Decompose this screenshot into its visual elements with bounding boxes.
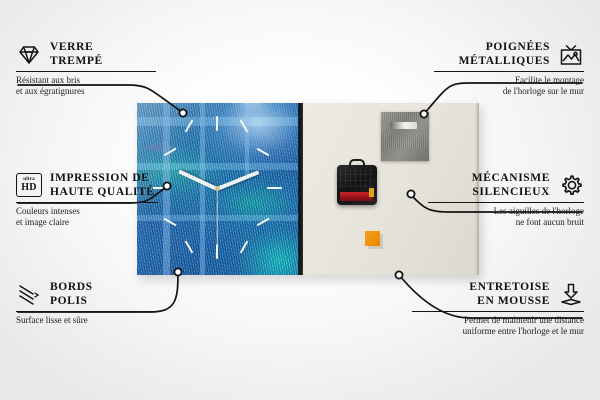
callout-rule <box>16 311 156 312</box>
callout-impression-hd: ultra HD IMPRESSION DE HAUTE QUALITÉ Cou… <box>16 172 168 228</box>
callout-poignees-metalliques: POIGNÉES MÉTALLIQUES Facilite le montage… <box>434 41 584 97</box>
picture-hanger-icon <box>558 42 584 68</box>
hd-icon-small-text: ultra <box>23 177 35 182</box>
desc-line-2: et image claire <box>16 217 69 227</box>
desc-line-1: Couleurs intenses <box>16 206 80 216</box>
hotspot-poignees <box>420 110 427 117</box>
callout-title: VERRE TREMPÉ <box>50 41 103 68</box>
callout-title: POIGNÉES MÉTALLIQUES <box>459 41 550 68</box>
callout-bords-polis: BORDS POLIS Surface lisse et sûre <box>16 281 166 326</box>
callout-title: MÉCANISME SILENCIEUX <box>472 172 550 199</box>
desc-line-2: uniforme entre l'horloge et le mur <box>463 326 584 336</box>
gear-icon <box>558 173 584 199</box>
title-line-1: POIGNÉES <box>486 41 550 53</box>
hotspot-entretoise <box>395 271 402 278</box>
desc-line-1: Résistant aux bris <box>16 75 80 85</box>
title-line-1: VERRE <box>50 41 93 53</box>
callout-title: ENTRETOISE EN MOUSSE <box>469 281 550 308</box>
hotspot-mecanisme <box>407 190 414 197</box>
hotspot-verre-trempe <box>179 109 186 116</box>
callout-description: Résistant aux bris et aux égratignures <box>16 75 166 97</box>
desc-line-1: Surface lisse et sûre <box>16 315 88 325</box>
desc-line-2: ne font aucun bruit <box>516 217 584 227</box>
title-line-2: EN MOUSSE <box>477 295 550 307</box>
title-line-1: MÉCANISME <box>472 172 550 184</box>
callout-rule <box>16 202 158 203</box>
title-line-1: BORDS <box>50 281 93 293</box>
infographic-canvas: VERRE TREMPÉ Résistant aux bris et aux é… <box>0 0 600 400</box>
callout-rule <box>428 202 584 203</box>
callout-description: Couleurs intenses et image claire <box>16 206 168 228</box>
callout-description: Surface lisse et sûre <box>16 315 166 326</box>
title-line-2: SILENCIEUX <box>472 186 550 198</box>
callout-rule <box>434 71 584 72</box>
callout-title: BORDS POLIS <box>50 281 93 308</box>
title-line-1: ENTRETOISE <box>469 281 550 293</box>
callout-rule <box>412 311 584 312</box>
title-line-2: MÉTALLIQUES <box>459 55 550 67</box>
desc-line-2: de l'horloge sur le mur <box>503 86 584 96</box>
desc-line-1: Les aiguilles de l'horloge <box>494 206 584 216</box>
title-line-1: IMPRESSION DE <box>50 172 150 184</box>
title-line-2: TREMPÉ <box>50 55 103 67</box>
diamond-icon <box>16 42 42 68</box>
ultra-hd-icon: ultra HD <box>16 173 42 199</box>
callout-description: Les aiguilles de l'horloge ne font aucun… <box>428 206 584 228</box>
callout-description: Permet de maintenir une distance uniform… <box>412 315 584 337</box>
desc-line-2: et aux égratignures <box>16 86 84 96</box>
callout-rule <box>16 71 156 72</box>
callout-description: Facilite le montage de l'horloge sur le … <box>434 75 584 97</box>
callout-title: IMPRESSION DE HAUTE QUALITÉ <box>50 172 155 199</box>
desc-line-1: Facilite le montage <box>515 75 584 85</box>
desc-line-1: Permet de maintenir une distance <box>464 315 584 325</box>
title-line-2: POLIS <box>50 295 88 307</box>
callout-entretoise-en-mousse: ENTRETOISE EN MOUSSE Permet de maintenir… <box>412 281 584 337</box>
title-line-2: HAUTE QUALITÉ <box>50 186 155 198</box>
hotspot-bords-polis <box>174 268 181 275</box>
foam-spacer-icon <box>558 282 584 308</box>
polished-edges-icon <box>16 282 42 308</box>
hd-icon-main-text: HD <box>21 183 37 193</box>
callout-verre-trempe: VERRE TREMPÉ Résistant aux bris et aux é… <box>16 41 166 97</box>
callout-mecanisme-silencieux: MÉCANISME SILENCIEUX Les aiguilles de l'… <box>428 172 584 228</box>
